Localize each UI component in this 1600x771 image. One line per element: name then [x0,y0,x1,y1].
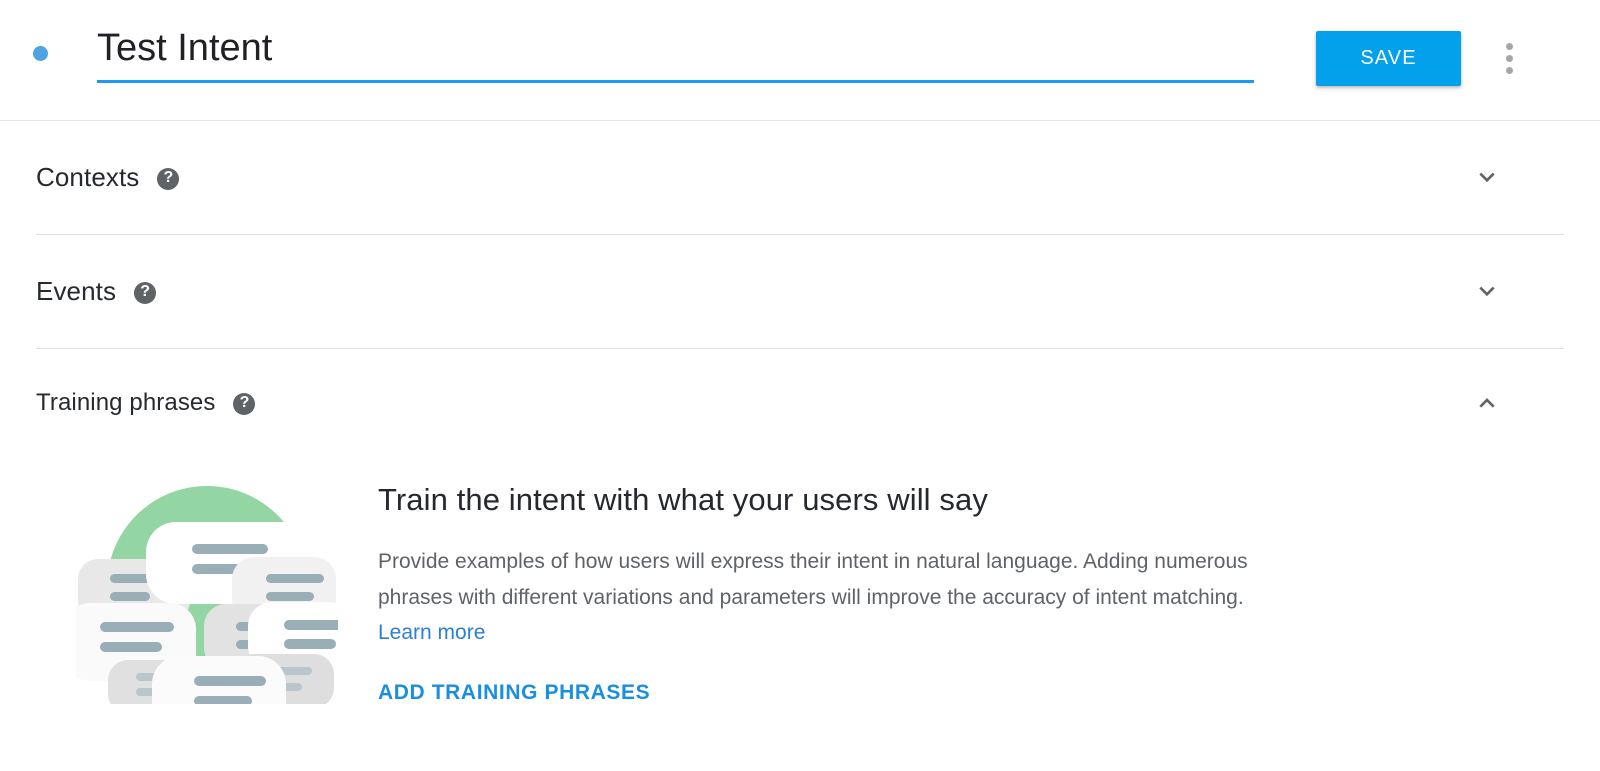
chevron-up-icon[interactable] [1470,386,1504,420]
section-contexts[interactable]: Contexts ? [36,121,1564,235]
kebab-dot-1 [1506,43,1513,50]
help-icon-glyph: ? [140,284,150,300]
training-phrases-description: Provide examples of how users will expre… [378,544,1258,651]
chevron-down-icon[interactable] [1470,275,1504,309]
section-training-phrases[interactable]: Training phrases ? [36,349,1564,456]
training-phrases-empty-state: Train the intent with what your users wi… [36,456,1564,709]
intent-editor-page: SAVE Contexts ? Events ? Tra [0,0,1600,771]
save-button[interactable]: SAVE [1316,31,1461,86]
help-icon-glyph: ? [240,395,250,411]
training-phrases-description-text: Provide examples of how users will expre… [378,550,1248,609]
more-options-icon[interactable] [1496,33,1522,83]
section-training-phrases-label: Training phrases [36,389,215,417]
training-phrases-copy: Train the intent with what your users wi… [336,464,1564,705]
chevron-down-icon[interactable] [1470,161,1504,195]
intent-header: SAVE [0,0,1600,121]
intent-active-dot [33,46,48,61]
help-icon[interactable]: ? [157,168,179,190]
add-training-phrases-button[interactable]: ADD TRAINING PHRASES [378,681,650,705]
help-icon[interactable]: ? [134,282,156,304]
help-icon[interactable]: ? [233,393,255,415]
kebab-dot-2 [1506,55,1513,62]
speech-bubbles-illustration [36,464,336,709]
section-events-label: Events [36,276,116,307]
learn-more-link[interactable]: Learn more [378,621,485,644]
kebab-dot-3 [1506,67,1513,74]
training-phrases-heading: Train the intent with what your users wi… [378,482,1564,518]
section-events[interactable]: Events ? [36,235,1564,349]
intent-name-field-wrap [97,22,1254,83]
section-contexts-label: Contexts [36,162,139,193]
intent-name-input[interactable] [97,22,1254,83]
help-icon-glyph: ? [164,170,174,186]
